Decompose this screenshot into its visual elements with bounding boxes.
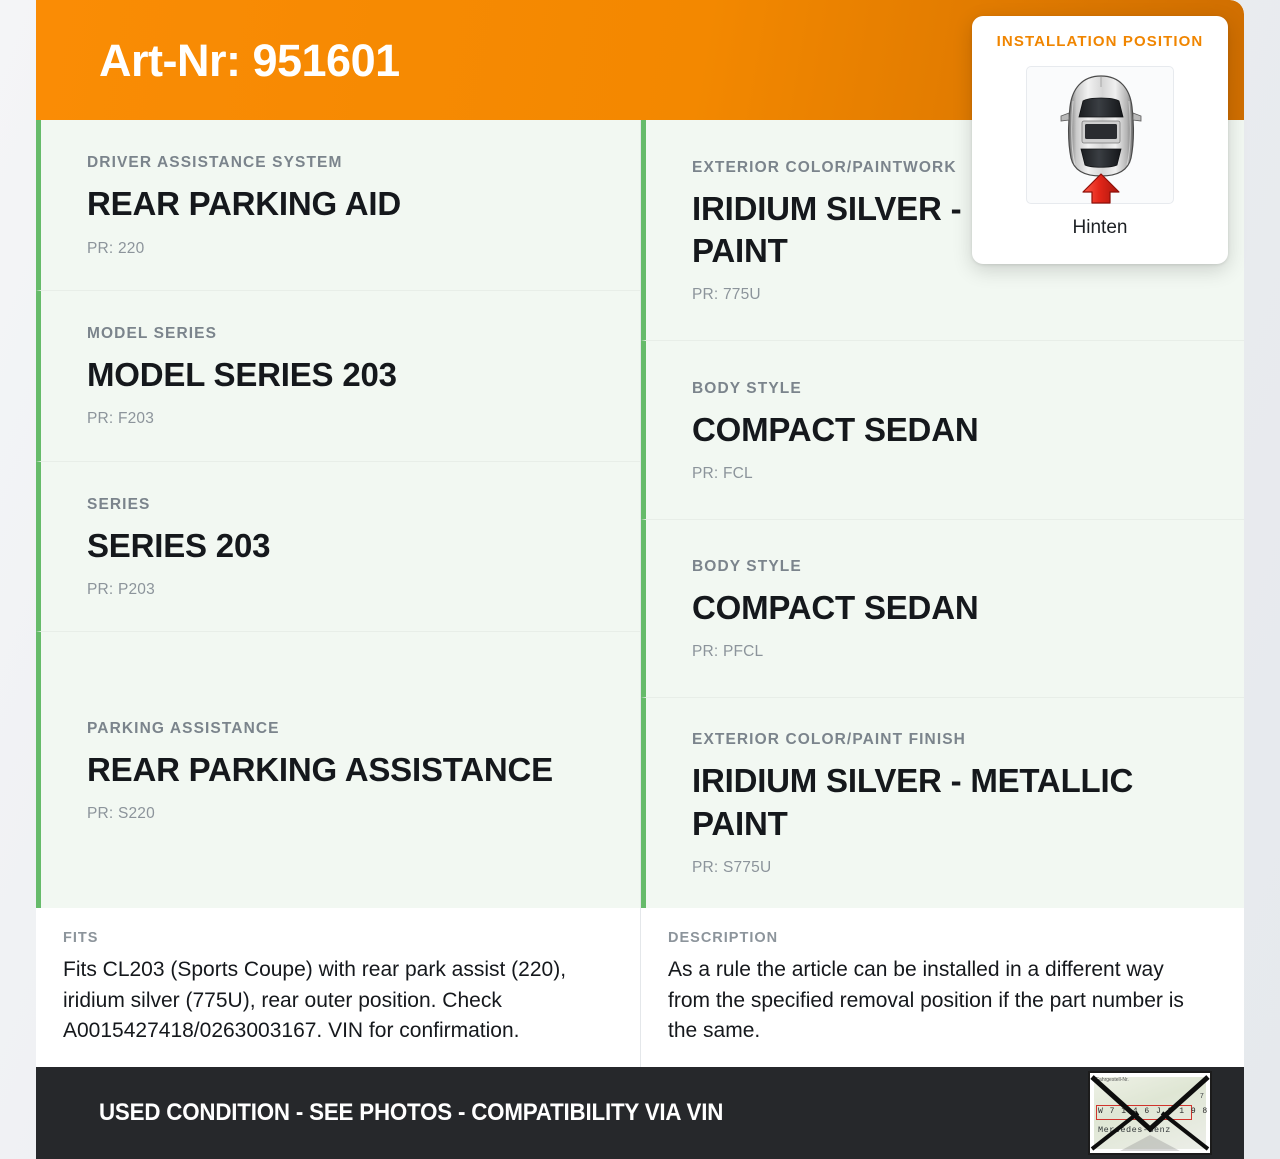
spec-label: EXTERIOR COLOR/PAINT FINISH	[692, 731, 1198, 749]
spec-pr-code: PR: 775U	[692, 286, 1198, 304]
spec-pr-code: PR: PFCL	[692, 643, 1198, 661]
spec-row: MODEL SERIES MODEL SERIES 203 PR: F203	[36, 291, 640, 462]
spec-label: BODY STYLE	[692, 380, 1198, 398]
spec-row: SERIES SERIES 203 PR: P203	[36, 462, 640, 633]
spec-value: MODEL SERIES 203	[87, 354, 594, 396]
spec-row: PARKING ASSISTANCE REAR PARKING ASSISTAN…	[36, 632, 640, 908]
spec-row: EXTERIOR COLOR/PAINT FINISH IRIDIUM SILV…	[641, 698, 1244, 908]
spec-value: REAR PARKING AID	[87, 183, 594, 225]
page-title: Art-Nr: 951601	[99, 38, 400, 83]
car-top-view-rear-arrow-icon	[1026, 66, 1174, 204]
spec-label: BODY STYLE	[692, 558, 1198, 576]
footer-condition-text: USED CONDITION - SEE PHOTOS - COMPATIBIL…	[99, 1099, 723, 1127]
spec-pr-code: PR: P203	[87, 581, 594, 599]
spec-pr-code: PR: F203	[87, 410, 594, 428]
vin-document-envelope-icon: Fahrgestell-Nr. W 7 1 4 6 J 3 1 9 8 7 Me…	[1088, 1071, 1212, 1155]
spec-label: PARKING ASSISTANCE	[87, 720, 594, 738]
footer-bar: USED CONDITION - SEE PHOTOS - COMPATIBIL…	[36, 1067, 1244, 1159]
spec-value: IRIDIUM SILVER - METALLIC PAINT	[692, 760, 1198, 844]
spec-pr-code: PR: 220	[87, 240, 594, 258]
description-label: DESCRIPTION	[668, 930, 1198, 946]
fits-block: FITS Fits CL203 (Sports Coupe) with rear…	[36, 908, 640, 1067]
spec-row: DRIVER ASSISTANCE SYSTEM REAR PARKING AI…	[36, 120, 640, 291]
car-diagram-svg	[1027, 67, 1175, 205]
spec-pr-code: PR: S775U	[692, 859, 1198, 877]
description-block: DESCRIPTION As a rule the article can be…	[641, 908, 1244, 1067]
installation-position-title: INSTALLATION POSITION	[972, 33, 1228, 50]
spec-label: DRIVER ASSISTANCE SYSTEM	[87, 154, 594, 172]
installation-position-caption: Hinten	[972, 217, 1228, 239]
left-column: DRIVER ASSISTANCE SYSTEM REAR PARKING AI…	[36, 120, 640, 1067]
spec-value: COMPACT SEDAN	[692, 587, 1198, 629]
description-text: As a rule the article can be installed i…	[668, 955, 1198, 1047]
spec-value: REAR PARKING ASSISTANCE	[87, 749, 594, 791]
spec-row: BODY STYLE COMPACT SEDAN PR: FCL	[641, 341, 1244, 519]
fits-text: Fits CL203 (Sports Coupe) with rear park…	[63, 955, 594, 1047]
spec-label: MODEL SERIES	[87, 325, 594, 343]
installation-position-card: INSTALLATION POSITION	[972, 16, 1228, 264]
spec-label: SERIES	[87, 496, 594, 514]
fits-label: FITS	[63, 930, 594, 946]
spec-pr-code: PR: S220	[87, 805, 594, 823]
screenshot-root: Art-Nr: 951601 DRIVER ASSISTANCE SYSTEM …	[0, 0, 1280, 1159]
spec-row: BODY STYLE COMPACT SEDAN PR: PFCL	[641, 520, 1244, 698]
spec-value: COMPACT SEDAN	[692, 409, 1198, 451]
spec-pr-code: PR: FCL	[692, 465, 1198, 483]
spec-value: SERIES 203	[87, 525, 594, 567]
envelope-overlay-icon	[1090, 1073, 1210, 1153]
